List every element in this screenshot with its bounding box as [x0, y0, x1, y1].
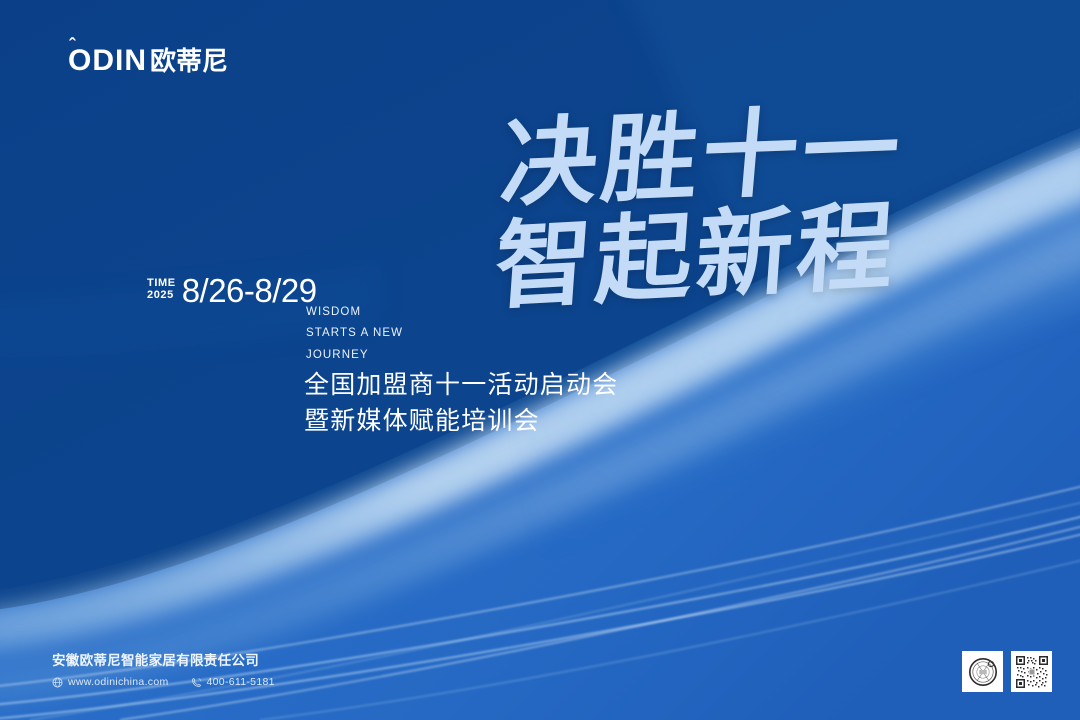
event-date-block: TIME 2025 8/26-8/29 — [147, 276, 317, 306]
event-subtitle: 全国加盟商十一活动启动会 暨新媒体赋能培训会 — [304, 368, 618, 439]
phone-text: 400-611-5181 — [207, 676, 275, 688]
date-label-year: 2025 — [147, 290, 176, 302]
logo-letters-din: DIN — [92, 44, 147, 77]
tagline-line-1: WISDOM — [306, 302, 403, 323]
date-kicker: TIME 2025 — [147, 278, 176, 301]
date-range: 8/26-8/29 — [182, 276, 317, 306]
website-contact[interactable]: www.odinichina.com — [52, 676, 169, 688]
event-poster: ˆODIN 欧蒂尼 决胜十一 智起新程 TIME 2025 8/26-8/29 … — [0, 0, 1080, 720]
english-tagline: WISDOM STARTS A NEW JOURNEY — [306, 302, 403, 366]
tagline-line-2: STARTS A NEW — [306, 323, 403, 344]
date-label-time: TIME — [147, 278, 176, 290]
globe-icon — [52, 677, 63, 688]
contact-row: www.odinichina.com 400-611-5181 — [52, 676, 297, 688]
subtitle-line-2: 暨新媒体赋能培训会 — [304, 404, 618, 440]
phone-icon — [191, 677, 202, 688]
logo-circumflex-accent: ˆ — [69, 37, 76, 56]
company-name: 安徽欧蒂尼智能家居有限责任公司 — [52, 649, 297, 669]
phone-contact[interactable]: 400-611-5181 — [191, 676, 275, 688]
headline-calligraphy: 决胜十一 智起新程 — [432, 112, 902, 304]
website-text: www.odinichina.com — [68, 676, 169, 688]
subtitle-line-1: 全国加盟商十一活动启动会 — [304, 368, 618, 404]
logo-latin-wordmark: ˆODIN — [68, 46, 147, 76]
official-seal-stamp[interactable] — [962, 651, 1003, 692]
tagline-line-3: JOURNEY — [306, 345, 403, 366]
wechat-qr-code[interactable] — [1011, 651, 1052, 692]
footer-block: 安徽欧蒂尼智能家居有限责任公司 www.odinichina.com — [52, 649, 297, 688]
code-group — [962, 651, 1052, 692]
logo-chinese-wordmark: 欧蒂尼 — [150, 48, 228, 74]
brand-logo: ˆODIN 欧蒂尼 — [68, 46, 228, 76]
headline-line-2: 智起新程 — [422, 200, 901, 317]
